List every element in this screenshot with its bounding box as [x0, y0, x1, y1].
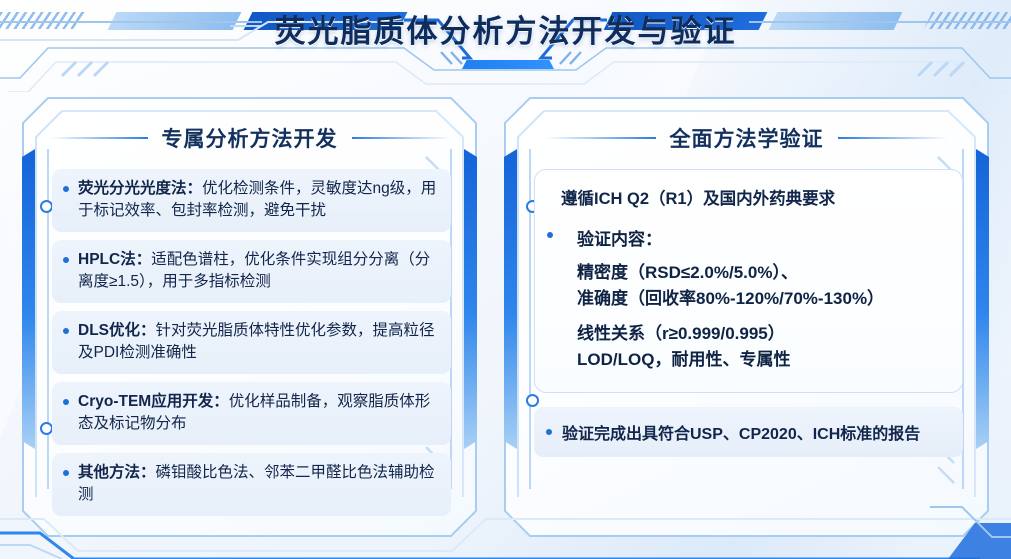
- bullet-icon: [63, 399, 69, 405]
- divider-right: [838, 137, 948, 139]
- panel-header-right: 全面方法学验证: [504, 123, 989, 153]
- panel-accent-bar-left: [504, 149, 517, 449]
- validation-value: LOD/LOQ，耐用性、专属性: [577, 348, 946, 371]
- bullet-icon: [547, 232, 553, 238]
- panel-title: 专属分析方法开发: [162, 123, 338, 153]
- validation-content-label: 验证内容：: [577, 225, 946, 250]
- list-item[interactable]: 其他方法：磷钼酸比色法、邻苯二甲醛比色法辅助检测: [52, 453, 451, 516]
- validation-value: 精密度（RSD≤2.0%/5.0%）、: [577, 261, 946, 284]
- item-term: DLS优化：: [78, 322, 156, 339]
- header-center-tab: [462, 60, 554, 69]
- panel-title: 全面方法学验证: [670, 123, 824, 153]
- panel-accent-bar-right: [464, 149, 477, 449]
- validation-detail-card[interactable]: 遵循ICH Q2（R1）及国内外药典要求 验证内容： 精密度（RSD≤2.0%/…: [534, 169, 963, 393]
- bullet-icon: [63, 470, 69, 476]
- method-list: 荧光分光光度法：优化检测条件，灵敏度达ng级，用于标记效率、包封率检测，避免干扰…: [52, 169, 451, 523]
- item-term: HPLC法：: [78, 251, 151, 268]
- bullet-icon: [63, 257, 69, 263]
- divider-left: [50, 137, 148, 139]
- panel-method-validation: 全面方法学验证 遵循ICH Q2（R1）及国内外药典要求 验证内容： 精密度（R…: [504, 97, 989, 537]
- bullet-icon: [63, 328, 69, 334]
- validation-list: 遵循ICH Q2（R1）及国内外药典要求 验证内容： 精密度（RSD≤2.0%/…: [534, 169, 963, 523]
- page-title: 荧光脂质体分析方法开发与验证: [0, 6, 1011, 51]
- list-item[interactable]: HPLC法：适配色谱柱，优化条件实现组分分离（分离度≥1.5），用于多指标检测: [52, 240, 451, 303]
- validation-footer: 验证完成出具符合USP、CP2020、ICH标准的报告: [562, 420, 949, 444]
- divider-left: [546, 137, 656, 139]
- panel-method-development: 专属分析方法开发 荧光分光光度法：优化检测条件，灵敏度达ng级，用于标记效率、包…: [22, 97, 477, 537]
- list-item[interactable]: Cryo-TEM应用开发：优化样品制备，观察脂质体形态及标记物分布: [52, 382, 451, 445]
- item-term: Cryo-TEM应用开发：: [78, 393, 229, 410]
- panel-header-left: 专属分析方法开发: [22, 123, 477, 153]
- panel-accent-bar-right: [976, 149, 989, 449]
- list-item[interactable]: 荧光分光光度法：优化检测条件，灵敏度达ng级，用于标记效率、包封率检测，避免干扰: [52, 169, 451, 232]
- slide-header: 荧光脂质体分析方法开发与验证: [0, 0, 1011, 92]
- validation-value: 准确度（回收率80%-120%/70%-130%）: [577, 287, 946, 310]
- panel-accent-bar-left: [22, 149, 35, 449]
- divider-right: [352, 137, 450, 139]
- validation-value: 线性关系（r≥0.999/0.995）: [577, 322, 946, 345]
- validation-report-card[interactable]: 验证完成出具符合USP、CP2020、ICH标准的报告: [534, 407, 963, 457]
- bullet-icon: [63, 186, 69, 192]
- validation-intro: 遵循ICH Q2（R1）及国内外药典要求: [561, 185, 946, 209]
- slide-canvas: 荧光脂质体分析方法开发与验证: [0, 0, 1011, 559]
- item-term: 荧光分光光度法：: [78, 180, 202, 197]
- bullet-icon: [546, 429, 552, 435]
- item-term: 其他方法：: [78, 464, 156, 481]
- list-item[interactable]: DLS优化：针对荧光脂质体特性优化参数，提高粒径及PDI检测准确性: [52, 311, 451, 374]
